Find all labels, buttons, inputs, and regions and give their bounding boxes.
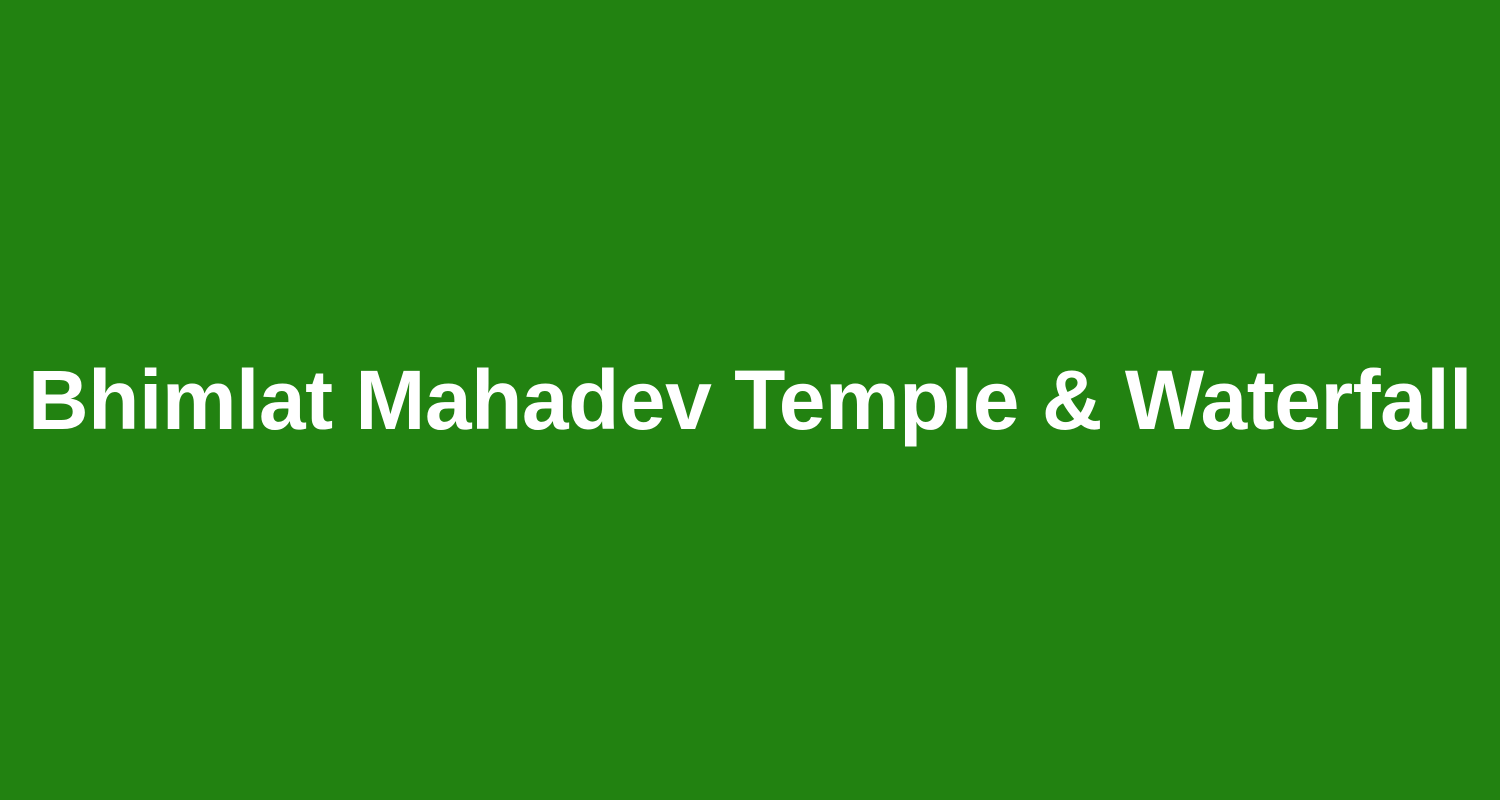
page-title: Bhimlat Mahadev Temple & Waterfall: [28, 355, 1472, 446]
title-banner: Bhimlat Mahadev Temple & Waterfall: [0, 0, 1500, 800]
